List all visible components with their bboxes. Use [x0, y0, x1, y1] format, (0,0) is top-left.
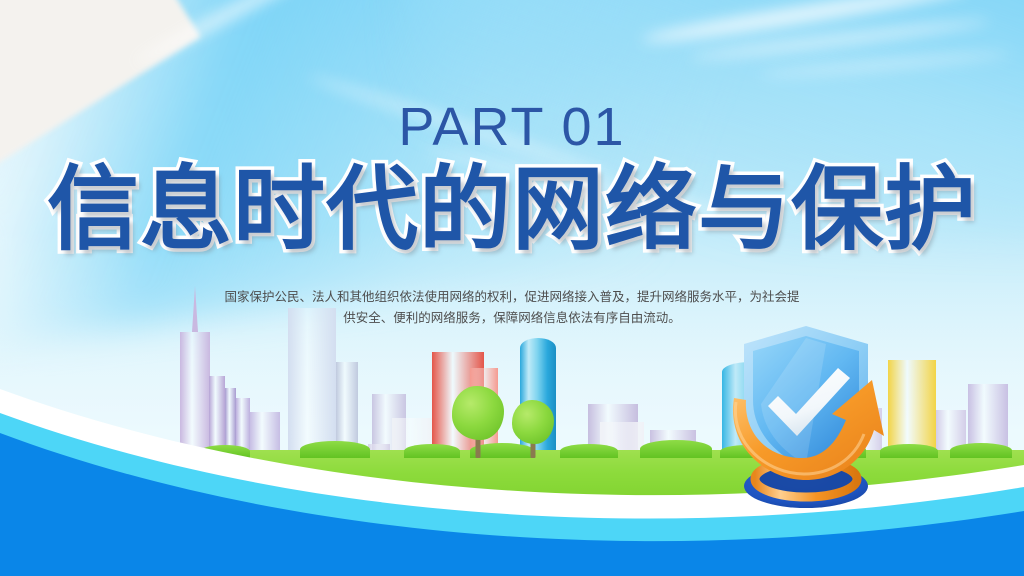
- section-label: PART 01: [0, 96, 1024, 158]
- security-shield-emblem: [706, 318, 906, 518]
- page-title: 信息时代的网络与保护: [0, 160, 1024, 259]
- description-text: 国家保护公民、法人和其他组织依法使用网络的权利，促进网络接入普及，提升网络服务水…: [192, 286, 832, 328]
- slide-canvas: PART 01 信息时代的网络与保护 国家保护公民、法人和其他组织依法使用网络的…: [0, 0, 1024, 576]
- description-line-1: 国家保护公民、法人和其他组织依法使用网络的权利，促进网络接入普及，提升网络服务水…: [224, 289, 799, 304]
- description-line-2: 供安全、便利的网络服务，保障网络信息依法有序自由流动。: [192, 307, 832, 328]
